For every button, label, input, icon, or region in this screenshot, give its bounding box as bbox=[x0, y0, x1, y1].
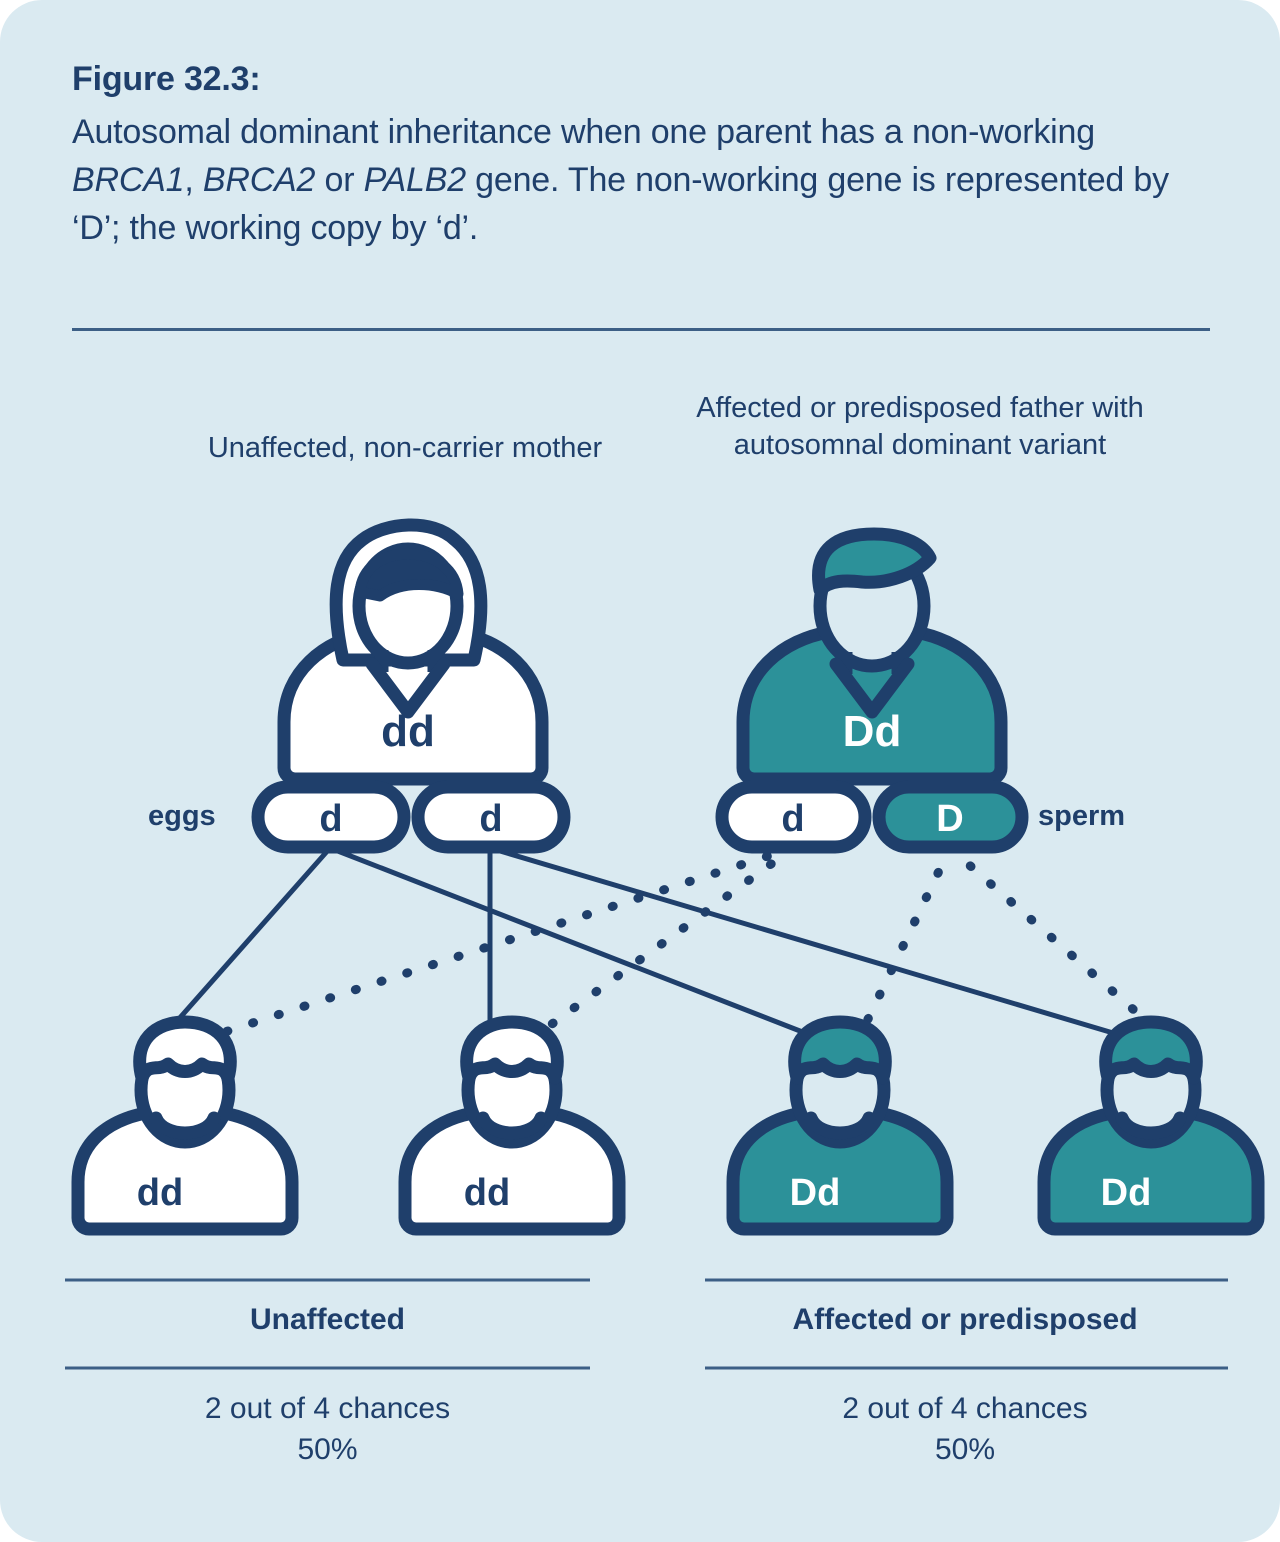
egg-2-allele: d bbox=[479, 798, 502, 840]
affected-chances: 2 out of 4 chances bbox=[705, 1388, 1225, 1429]
mother-fringe bbox=[360, 554, 458, 596]
summary-affected-title: Affected or predisposed bbox=[705, 1303, 1225, 1337]
child-3-genotype: Dd bbox=[790, 1172, 841, 1214]
egg-1: d bbox=[258, 787, 404, 847]
mother-figure: dd bbox=[284, 525, 542, 779]
father-figure: Dd bbox=[743, 534, 1001, 779]
child-1: dd bbox=[78, 1022, 292, 1229]
child-3: Dd bbox=[733, 1022, 947, 1229]
unaffected-chances: 2 out of 4 chances bbox=[65, 1388, 590, 1429]
egg-1-allele: d bbox=[319, 798, 342, 840]
father-genotype: Dd bbox=[843, 707, 902, 756]
summary-affected-stats: 2 out of 4 chances 50% bbox=[705, 1388, 1225, 1471]
child-1-hair bbox=[140, 1022, 231, 1078]
mother-genotype: dd bbox=[381, 707, 435, 756]
unaffected-percent: 50% bbox=[65, 1429, 590, 1470]
child-2-genotype: dd bbox=[464, 1172, 510, 1214]
child-4-hair bbox=[1106, 1022, 1197, 1078]
sperm-2: D bbox=[879, 787, 1022, 847]
child-2: dd bbox=[405, 1022, 619, 1229]
sperm-1: d bbox=[722, 787, 865, 847]
sperm-2-allele: D bbox=[936, 798, 963, 840]
summary-unaffected-title: Unaffected bbox=[65, 1303, 590, 1337]
child-4: Dd bbox=[1044, 1022, 1258, 1229]
child-2-hair bbox=[467, 1022, 558, 1078]
sperm-1-allele: d bbox=[781, 798, 804, 840]
affected-percent: 50% bbox=[705, 1429, 1225, 1470]
egg-2: d bbox=[418, 787, 564, 847]
child-1-genotype: dd bbox=[137, 1172, 183, 1214]
figure-card: Figure 32.3: Autosomal dominant inherita… bbox=[0, 0, 1280, 1542]
child-4-genotype: Dd bbox=[1101, 1172, 1152, 1214]
child-3-hair bbox=[795, 1022, 886, 1078]
summary-unaffected-stats: 2 out of 4 chances 50% bbox=[65, 1388, 590, 1471]
